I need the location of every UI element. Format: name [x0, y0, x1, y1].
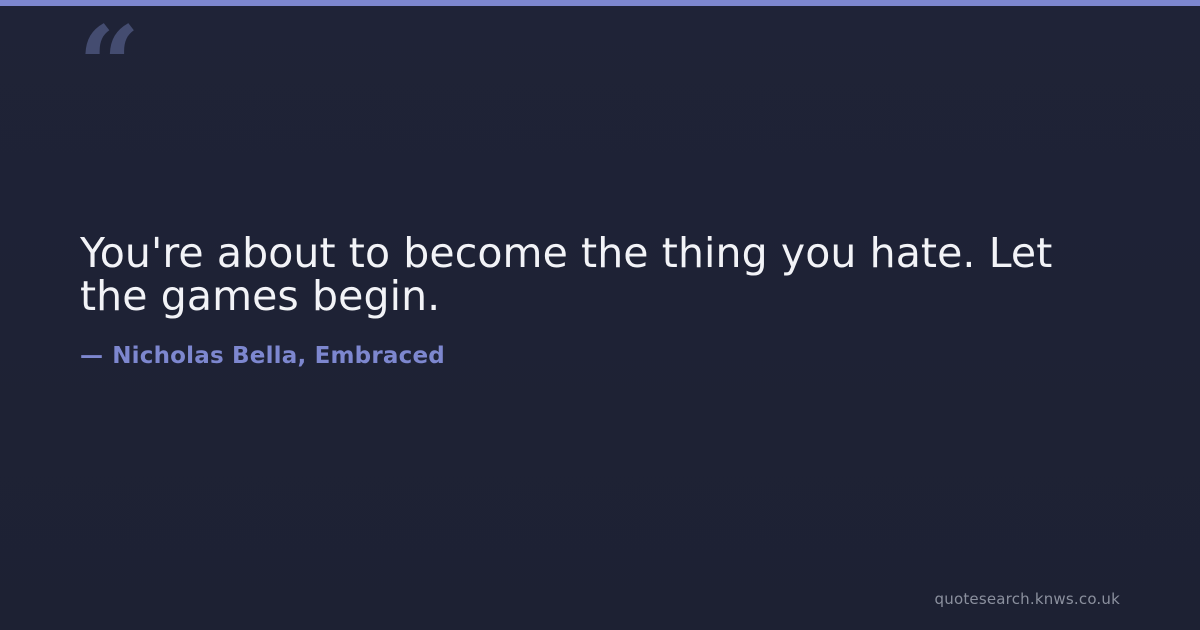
quote-text: You're about to become the thing you hat…	[80, 232, 1080, 317]
top-accent-bar	[0, 0, 1200, 6]
em-dash-icon: —	[80, 343, 112, 369]
quote-open-icon: “	[78, 12, 138, 120]
attribution-label: Nicholas Bella, Embraced	[112, 343, 445, 369]
site-url-label: quotesearch.knws.co.uk	[935, 590, 1120, 608]
quote-attribution: —Nicholas Bella, Embraced	[80, 317, 1080, 369]
quote-card: “ You're about to become the thing you h…	[0, 0, 1200, 630]
quote-body: You're about to become the thing you hat…	[80, 232, 1080, 369]
